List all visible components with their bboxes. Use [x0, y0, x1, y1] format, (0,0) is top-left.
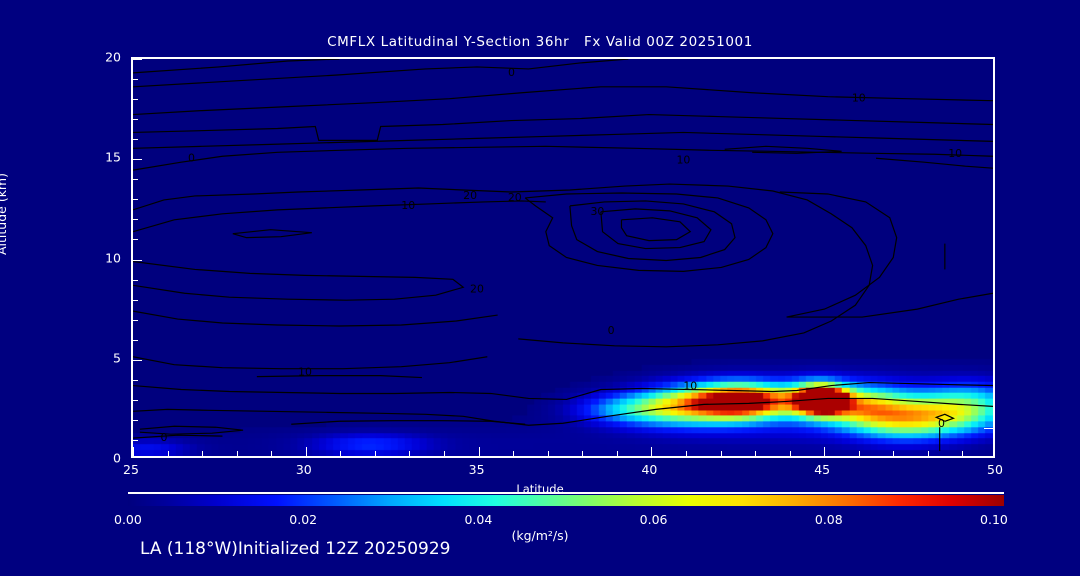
y-tick-mark — [133, 420, 138, 421]
contour-line — [133, 115, 993, 141]
y-tick-mark — [133, 219, 138, 220]
contour-label: 30 — [590, 205, 604, 218]
contour-label: 10 — [948, 147, 962, 160]
y-tick-label: 0 — [73, 451, 121, 466]
x-tick-mark — [651, 447, 652, 456]
contour-label: 10 — [401, 199, 415, 212]
x-tick-label: 40 — [641, 462, 657, 477]
y-tick-mark — [133, 300, 138, 301]
x-tick-mark — [375, 451, 376, 456]
colorbar-tick-label: 0.10 — [980, 512, 1008, 527]
x-tick-mark — [133, 447, 134, 456]
contour-line — [133, 59, 628, 87]
x-tick-mark — [617, 451, 618, 456]
contour-line — [133, 398, 993, 425]
x-tick-mark — [306, 447, 307, 456]
contour-line — [133, 435, 222, 438]
x-tick-mark — [444, 451, 445, 456]
x-tick-mark — [168, 451, 169, 456]
y-tick-mark — [133, 59, 142, 60]
y-tick-mark — [133, 119, 138, 120]
x-tick-mark — [686, 451, 687, 456]
x-tick-mark — [513, 451, 514, 456]
x-tick-mark — [548, 451, 549, 456]
colorbar-tick-label: 0.00 — [114, 512, 142, 527]
x-tick-label: 30 — [296, 462, 312, 477]
y-tick-mark — [133, 159, 142, 160]
x-tick-label: 50 — [987, 462, 1003, 477]
x-tick-label: 45 — [814, 462, 830, 477]
x-tick-mark — [340, 451, 341, 456]
footer-caption: LA (118°W)Initialized 12Z 20250929 — [140, 539, 450, 559]
x-tick-mark — [790, 451, 791, 456]
y-tick-mark — [133, 179, 138, 180]
contour-line — [133, 311, 498, 326]
x-tick-mark — [409, 451, 410, 456]
contour-line — [133, 146, 993, 170]
x-tick-mark — [582, 451, 583, 456]
contour-label: 10 — [852, 92, 866, 105]
x-tick-mark — [479, 447, 480, 456]
contour-line — [133, 383, 993, 400]
contour-line — [133, 261, 463, 300]
contour-label: 0 — [938, 417, 945, 430]
colorbar — [128, 495, 1004, 506]
x-tick-mark — [824, 447, 825, 456]
colorbar-tick-label: 0.04 — [464, 512, 492, 527]
y-tick-label: 15 — [73, 150, 121, 165]
contour-label: 0 — [508, 66, 515, 79]
y-tick-mark — [133, 99, 138, 100]
y-tick-mark — [133, 360, 142, 361]
page-title: CMFLX Latitudinal Y-Section 36hr Fx Vali… — [0, 34, 1080, 50]
contour-overlay: 0000010101010101020202030 — [133, 59, 993, 456]
y-tick-mark-right — [984, 428, 993, 429]
contour-label: 0 — [160, 431, 167, 444]
x-tick-mark — [893, 451, 894, 456]
contour-line — [233, 230, 312, 238]
x-tick-mark — [271, 451, 272, 456]
colorbar-tick-label: 0.02 — [289, 512, 317, 527]
contour-label: 10 — [676, 153, 690, 166]
y-tick-label: 20 — [73, 50, 121, 65]
x-tick-mark — [721, 451, 722, 456]
colorbar-tick-label: 0.06 — [640, 512, 668, 527]
chart-page: CMFLX Latitudinal Y-Section 36hr Fx Vali… — [0, 0, 1080, 576]
y-tick-mark — [133, 79, 138, 80]
colorbar-top-rule — [128, 492, 1004, 494]
y-tick-mark — [133, 260, 142, 261]
contour-line — [133, 201, 546, 232]
contour-line — [257, 376, 422, 378]
y-tick-label: 5 — [73, 350, 121, 365]
contour-label: 20 — [508, 191, 522, 204]
x-tick-mark — [755, 451, 756, 456]
contour-line — [133, 59, 339, 73]
x-tick-mark — [962, 451, 963, 456]
contour-label: 10 — [298, 366, 312, 379]
colorbar-tick-label: 0.08 — [815, 512, 843, 527]
contour-line — [133, 184, 873, 347]
x-tick-mark — [202, 451, 203, 456]
contour-line — [601, 209, 711, 249]
contour-line — [291, 421, 525, 425]
contour-label: 10 — [683, 380, 697, 393]
y-tick-mark — [133, 380, 138, 381]
x-tick-mark — [859, 451, 860, 456]
y-tick-mark — [133, 440, 138, 441]
contour-line — [876, 158, 993, 168]
y-tick-mark — [133, 239, 138, 240]
contour-line — [621, 218, 690, 241]
x-tick-label: 35 — [469, 462, 485, 477]
y-tick-label: 10 — [73, 250, 121, 265]
contour-line — [133, 132, 993, 148]
contour-label: 0 — [608, 324, 615, 337]
y-axis-title: Altitude (km) — [0, 173, 9, 255]
x-tick-mark — [237, 451, 238, 456]
contour-label: 20 — [470, 282, 484, 295]
y-tick-mark — [133, 320, 138, 321]
x-tick-mark — [928, 451, 929, 456]
contour-line — [780, 192, 993, 317]
y-tick-mark — [133, 199, 138, 200]
contour-line — [725, 146, 842, 153]
colorbar-gradient — [128, 495, 1004, 506]
contour-label: 0 — [188, 151, 195, 164]
y-tick-mark — [133, 139, 138, 140]
contour-line — [140, 426, 243, 434]
y-tick-mark — [133, 400, 138, 401]
x-tick-label: 25 — [123, 462, 139, 477]
y-tick-mark — [133, 280, 138, 281]
contour-label: 20 — [463, 189, 477, 202]
plot-area: 0000010101010101020202030 — [131, 57, 995, 458]
y-tick-mark — [133, 340, 138, 341]
